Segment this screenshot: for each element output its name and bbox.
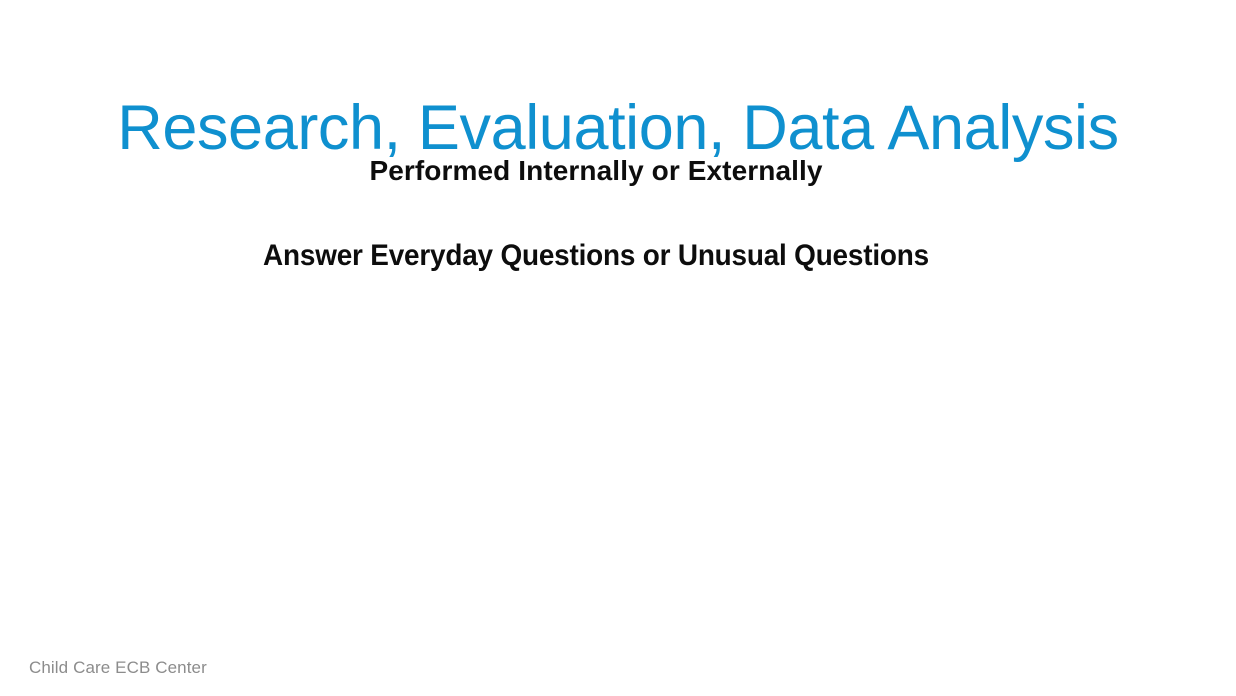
subtitle-line-answer-questions: Answer Everyday Questions or Unusual Que… [42,235,1151,277]
slide-content-area [0,300,1236,630]
slide-footer-organization: Child Care ECB Center [29,658,207,678]
subtitle-line-performed: Performed Internally or Externally [0,149,1192,193]
subtitle-spacer [0,193,1192,235]
subtitle-block: Performed Internally or Externally Answe… [0,149,1192,277]
presentation-slide: Research, Evaluation, Data Analysis Perf… [0,0,1236,696]
